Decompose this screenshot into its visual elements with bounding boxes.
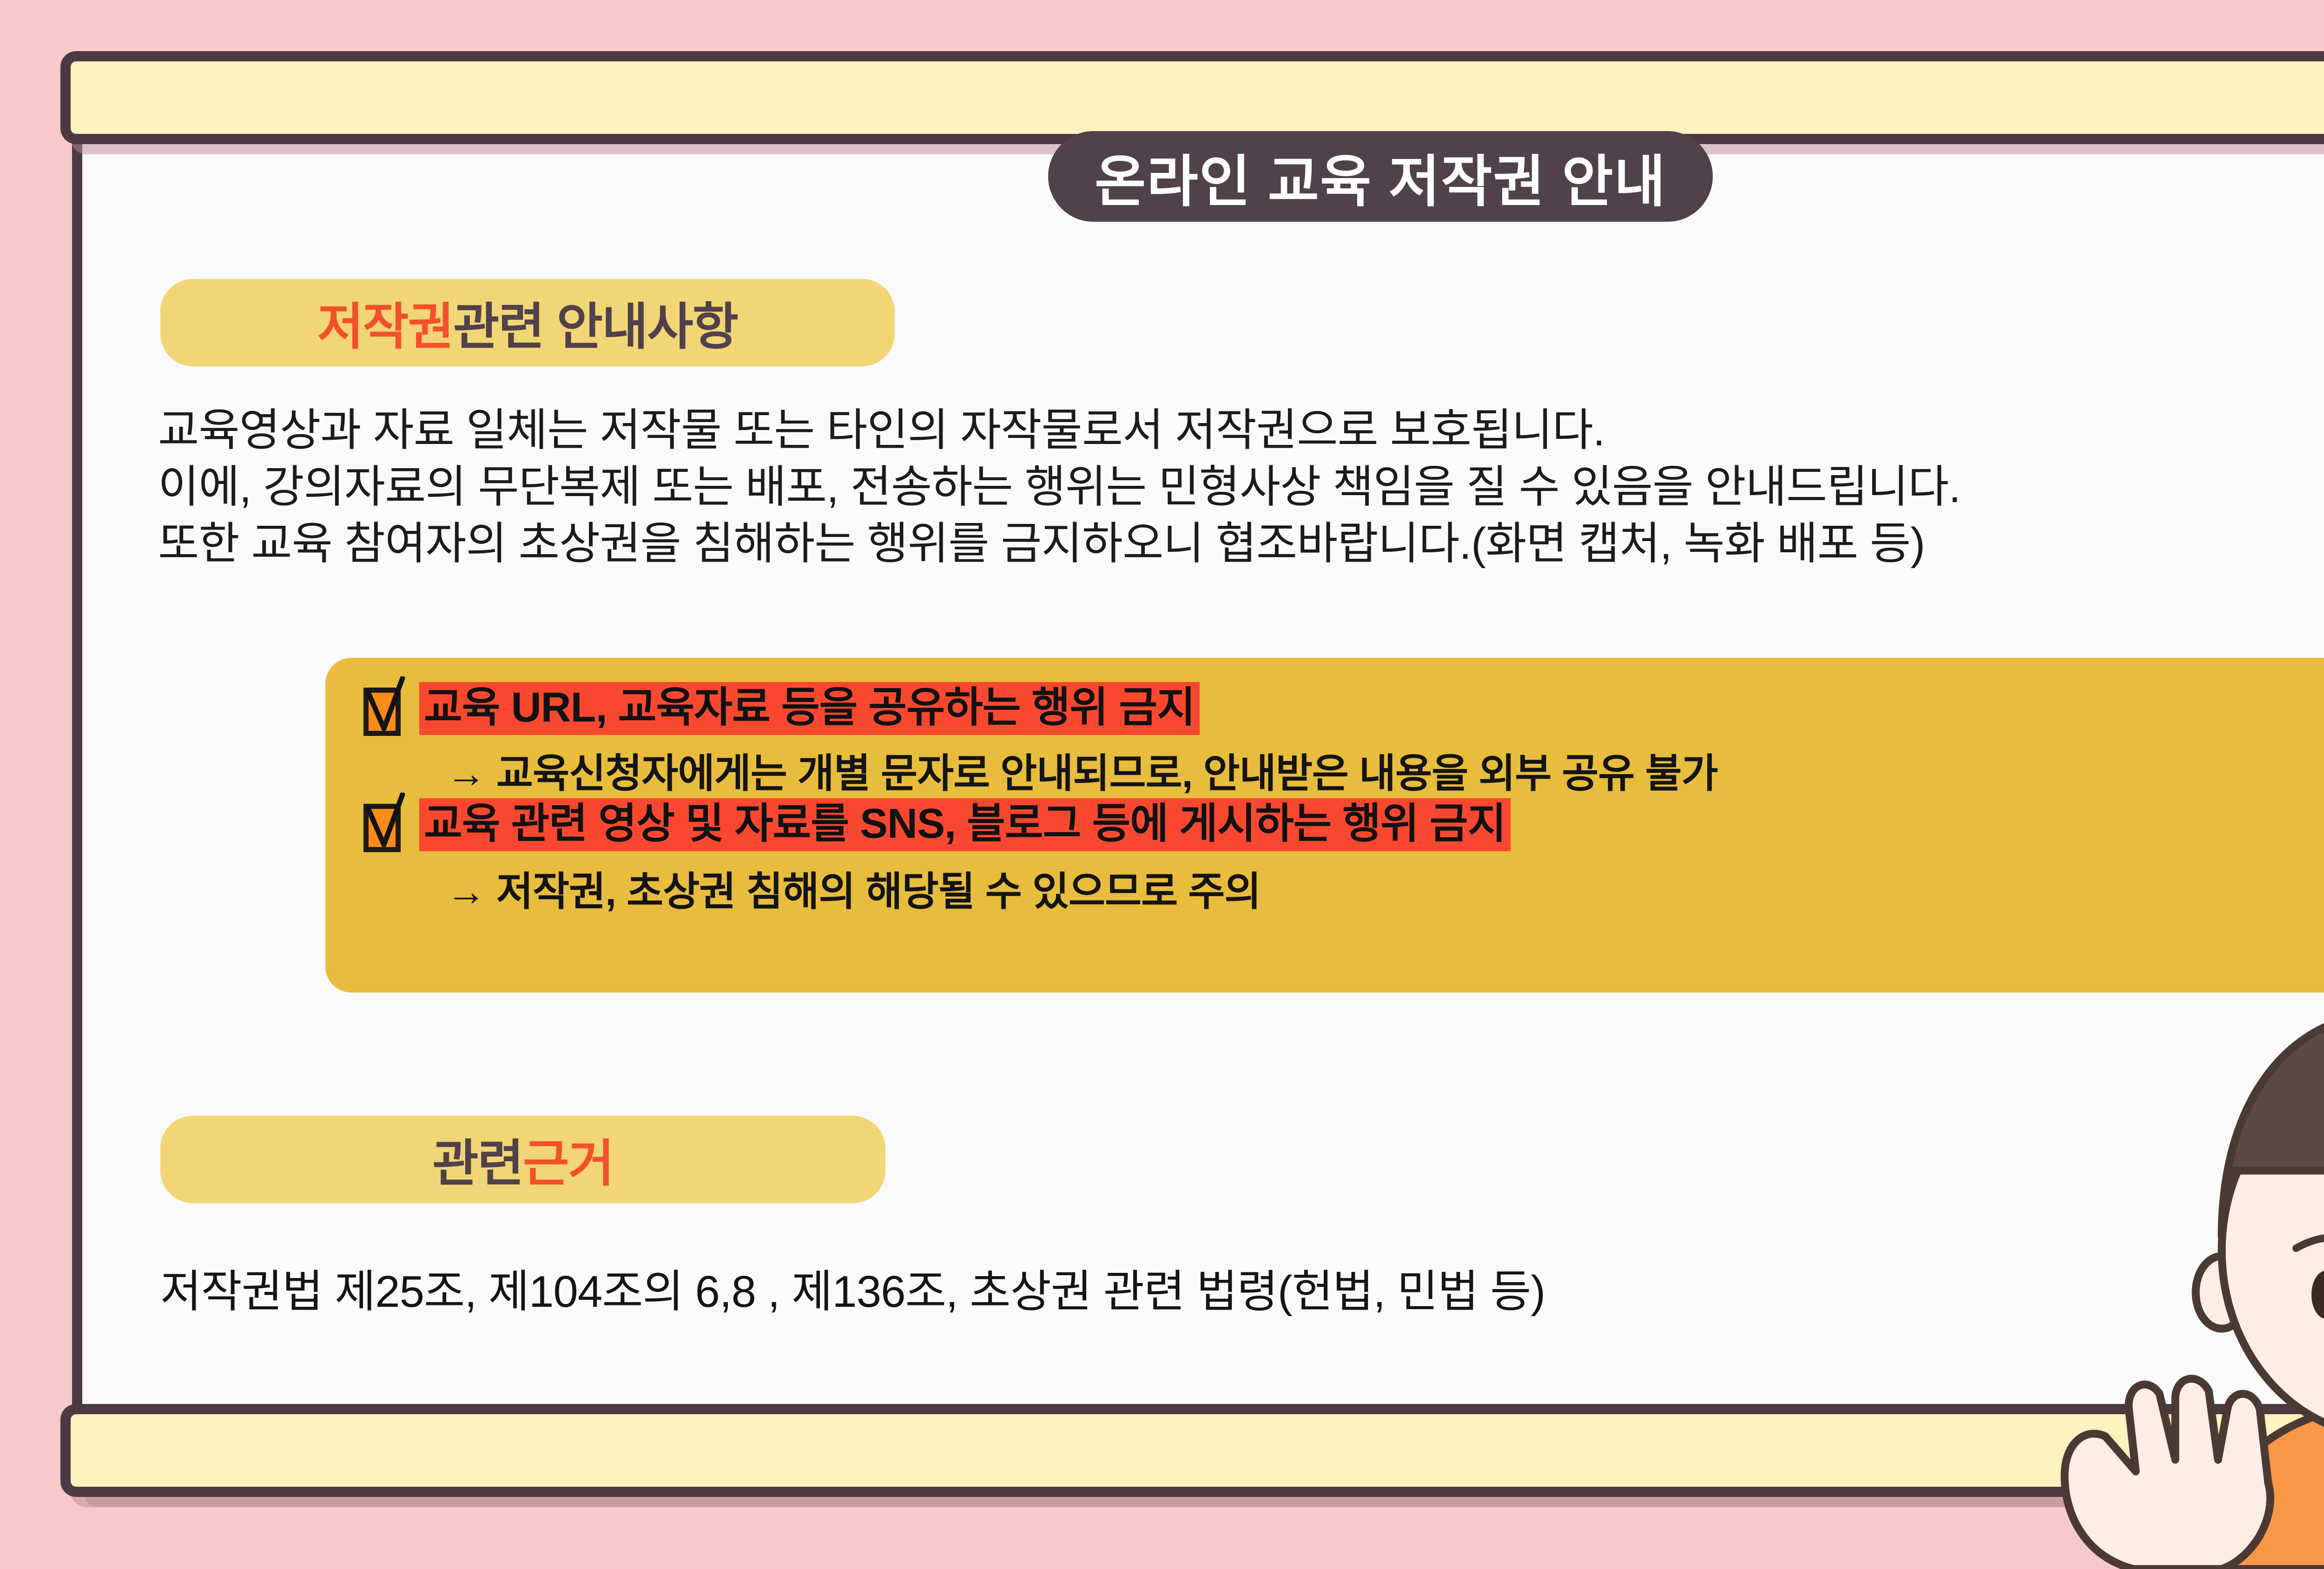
- checklist-item-2-detail-row: → 저작권, 초상권 침해의 해당될 수 있으므로 주의: [446, 859, 1261, 917]
- checklist-item-1: 교육 URL, 교육자료 등을 공유하는 행위 금지: [357, 681, 1200, 736]
- checklist-item-1-highlight: 교육 URL, 교육자료 등을 공유하는 행위 금지: [419, 682, 1200, 735]
- section-header-copyright-notice: 저작권 관련 안내사항: [160, 279, 895, 366]
- alarm-siren-info-icon: [2315, 181, 2324, 432]
- notice-line-3: 또한 교육 참여자의 초상권을 침해하는 행위를 금지하오니 협조바랍니다.(화…: [158, 516, 2324, 572]
- checked-checkbox-icon: [357, 681, 407, 736]
- notice-line-2: 이에, 강의자료의 무단복제 또는 배포, 전송하는 행위는 민형사상 책임을 …: [158, 459, 2324, 516]
- section-header-rest-text: 관련 안내사항: [453, 286, 738, 359]
- checklist-item-2-detail: → 저작권, 초상권 침해의 해당될 수 있으므로 주의: [446, 859, 1261, 917]
- checklist-item-1-detail: → 교육신청자에게는 개별 문자로 안내되므로, 안내받은 내용을 외부 공유 …: [446, 741, 1718, 799]
- legal-header-accent-text: 근거: [523, 1123, 614, 1196]
- checklist-item-2: 교육 관련 영상 및 자료를 SNS, 블로그 등에 게시하는 행위 금지: [357, 797, 1511, 852]
- page-title: 온라인 교육 저작권 안내: [1095, 136, 1666, 217]
- prohibited-actions-card: 교육 URL, 교육자료 등을 공유하는 행위 금지 → 교육신청자에게는 개별…: [325, 658, 2324, 993]
- top-rail-bar: [60, 51, 2324, 144]
- page-title-pill: 온라인 교육 저작권 안내: [1048, 131, 1713, 222]
- check-tick-icon: [358, 676, 407, 734]
- checked-checkbox-icon: [357, 797, 407, 852]
- section-header-accent-text: 저작권: [317, 286, 453, 359]
- notice-line-1: 교육영상과 자료 일체는 저작물 또는 타인의 자작물로서 저작권으로 보호됩니…: [158, 402, 2324, 459]
- checklist-item-1-detail-row: → 교육신청자에게는 개별 문자로 안내되므로, 안내받은 내용을 외부 공유 …: [446, 741, 1718, 799]
- legal-basis-text: 저작권법 제25조, 제104조의 6,8 , 제136조, 초상권 관련 법령…: [160, 1255, 1545, 1320]
- section-header-legal-basis: 관련 근거: [160, 1116, 885, 1203]
- infographic-page: 온라인 교육 저작권 안내 저작권 관련 안내사항 교육영상과 자료 일체는 저…: [0, 0, 2324, 1569]
- notice-paragraph: 교육영상과 자료 일체는 저작물 또는 타인의 자작물로서 저작권으로 보호됩니…: [158, 402, 2324, 572]
- boy-stop-gesture-illustration: [2036, 939, 2324, 1569]
- checklist-item-2-highlight: 교육 관련 영상 및 자료를 SNS, 블로그 등에 게시하는 행위 금지: [419, 798, 1511, 851]
- legal-header-dark-text: 관련: [432, 1123, 523, 1196]
- bottom-rail-bar: [60, 1404, 2324, 1497]
- check-tick-icon: [358, 793, 407, 850]
